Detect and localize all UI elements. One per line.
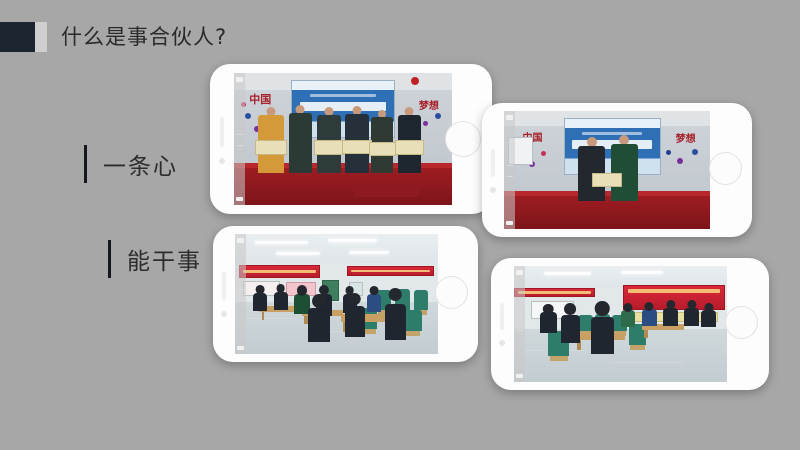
chair [414, 290, 428, 309]
certificate-holder [595, 165, 620, 200]
home-button-icon[interactable] [435, 276, 468, 309]
attendee [345, 306, 365, 337]
phone-4-screen [514, 266, 727, 382]
phone-1-screen: 中国 梦想 [234, 73, 452, 205]
attendee [367, 294, 381, 312]
attendee [591, 317, 614, 354]
signal-icon [506, 115, 513, 120]
camera-icon [499, 340, 505, 346]
banner-text [243, 270, 316, 273]
wall-decor-text-dream: 梦想 [419, 97, 439, 112]
caption-can-do-label: 能干事 [127, 242, 202, 276]
camera-icon [490, 187, 496, 193]
attendee [642, 309, 657, 326]
flower-decor [423, 121, 428, 126]
flower-decor [692, 149, 698, 155]
certificate [314, 140, 344, 155]
ceiling-light [621, 271, 664, 274]
ceiling-light [349, 251, 390, 254]
phone-mockup-4 [491, 258, 769, 390]
chair [403, 310, 421, 332]
camera-icon [219, 158, 225, 164]
projection-line-sub [310, 94, 376, 97]
banner-text [518, 291, 591, 293]
caption-one-heart: 一条心 [84, 145, 178, 183]
head [256, 285, 265, 294]
camera-icon [221, 311, 227, 317]
signal-icon [237, 238, 244, 243]
certificate [369, 142, 396, 156]
photo-meeting-room-angle [514, 266, 727, 382]
certificate [395, 140, 425, 155]
person-with-certificate [317, 107, 341, 173]
attendee [385, 304, 405, 340]
head [543, 304, 554, 315]
photo-award-ceremony-pair: 中国 梦想 [504, 111, 710, 229]
flower-decor [245, 113, 251, 119]
battery-icon [506, 221, 513, 225]
photo-award-ceremony-group: 中国 梦想 [234, 73, 452, 205]
wall-banner-right [347, 266, 434, 276]
wall-banner-left [239, 265, 320, 278]
head [666, 300, 675, 309]
caption-bar [108, 240, 111, 278]
speaker-icon [491, 149, 495, 177]
head [370, 286, 379, 295]
head [348, 293, 361, 306]
home-button-icon[interactable] [445, 121, 481, 157]
signal-icon [516, 270, 523, 275]
phone-2-screen: 中国 梦想 [504, 111, 710, 229]
floor-tile [247, 318, 296, 319]
banner-text [628, 289, 720, 293]
clock-icon [238, 289, 244, 301]
wall-decor-text-cn: 中国 [249, 91, 271, 107]
ceiling-light [328, 239, 377, 242]
person-with-certificate [345, 106, 369, 173]
battery-icon [236, 197, 243, 201]
attendee [253, 293, 267, 311]
title-text: 什么是事合伙人? [61, 22, 227, 52]
speaker-icon [220, 117, 224, 147]
head [704, 303, 713, 312]
caption-bar [84, 145, 87, 183]
status-bar-strip [514, 266, 525, 382]
flower-decor [435, 113, 441, 119]
title-accent-block [0, 22, 35, 52]
attendee [540, 312, 557, 333]
ceiling-light [255, 241, 308, 244]
head [687, 300, 696, 309]
clock-icon [517, 319, 523, 331]
battery-icon [237, 346, 244, 350]
status-bar-strip [235, 234, 246, 354]
person-with-certificate [258, 107, 284, 173]
status-bar-strip [504, 111, 515, 229]
head [389, 288, 402, 301]
certificate [342, 140, 372, 155]
ceiling-light [544, 272, 591, 275]
phone-mockup-3 [213, 226, 478, 362]
phone-3-screen [235, 234, 438, 354]
head [645, 302, 654, 311]
wall-decor-text-dream: 梦想 [676, 130, 696, 145]
person-with-certificate [289, 105, 313, 174]
certificate [255, 140, 287, 155]
head [595, 301, 610, 316]
floor-tile [610, 362, 685, 363]
head [623, 303, 632, 312]
banner-text [351, 270, 429, 272]
wall-banner-left [514, 288, 595, 297]
status-bar-strip [234, 73, 245, 205]
clock-icon [507, 165, 513, 177]
phone-mockup-1: 中国 梦想 [210, 64, 492, 214]
person-with-certificate [371, 110, 393, 173]
home-button-icon[interactable] [709, 152, 742, 185]
flower-decor [666, 150, 671, 155]
signal-icon [236, 77, 243, 82]
slide-canvas: { "slide": { "background_color": "#a7a7a… [0, 0, 800, 450]
head [276, 284, 285, 293]
attendee [561, 315, 580, 343]
caption-can-do: 能干事 [108, 240, 202, 278]
caption-one-heart-label: 一条心 [103, 147, 178, 181]
head [297, 285, 307, 295]
head [312, 294, 326, 308]
attendee [684, 308, 699, 327]
attendee [274, 292, 288, 310]
ceiling-light [276, 252, 321, 255]
attendee [701, 310, 716, 327]
page-title: 什么是事合伙人? [0, 22, 227, 52]
attendee [621, 310, 636, 327]
stage-table [354, 188, 419, 197]
attendee [663, 308, 678, 327]
attendee [308, 308, 330, 342]
clock-icon [237, 134, 243, 146]
photo-meeting-room-wide [235, 234, 438, 354]
battery-icon [516, 374, 523, 378]
speaker-icon [500, 303, 504, 330]
body [289, 113, 313, 174]
certificate [592, 173, 623, 186]
head [565, 303, 577, 315]
person-with-certificate [398, 107, 422, 173]
title-secondary-block [35, 22, 47, 52]
home-button-icon[interactable] [725, 306, 758, 339]
phone-mockup-2: 中国 梦想 [482, 103, 752, 237]
speaker-icon [222, 272, 226, 300]
